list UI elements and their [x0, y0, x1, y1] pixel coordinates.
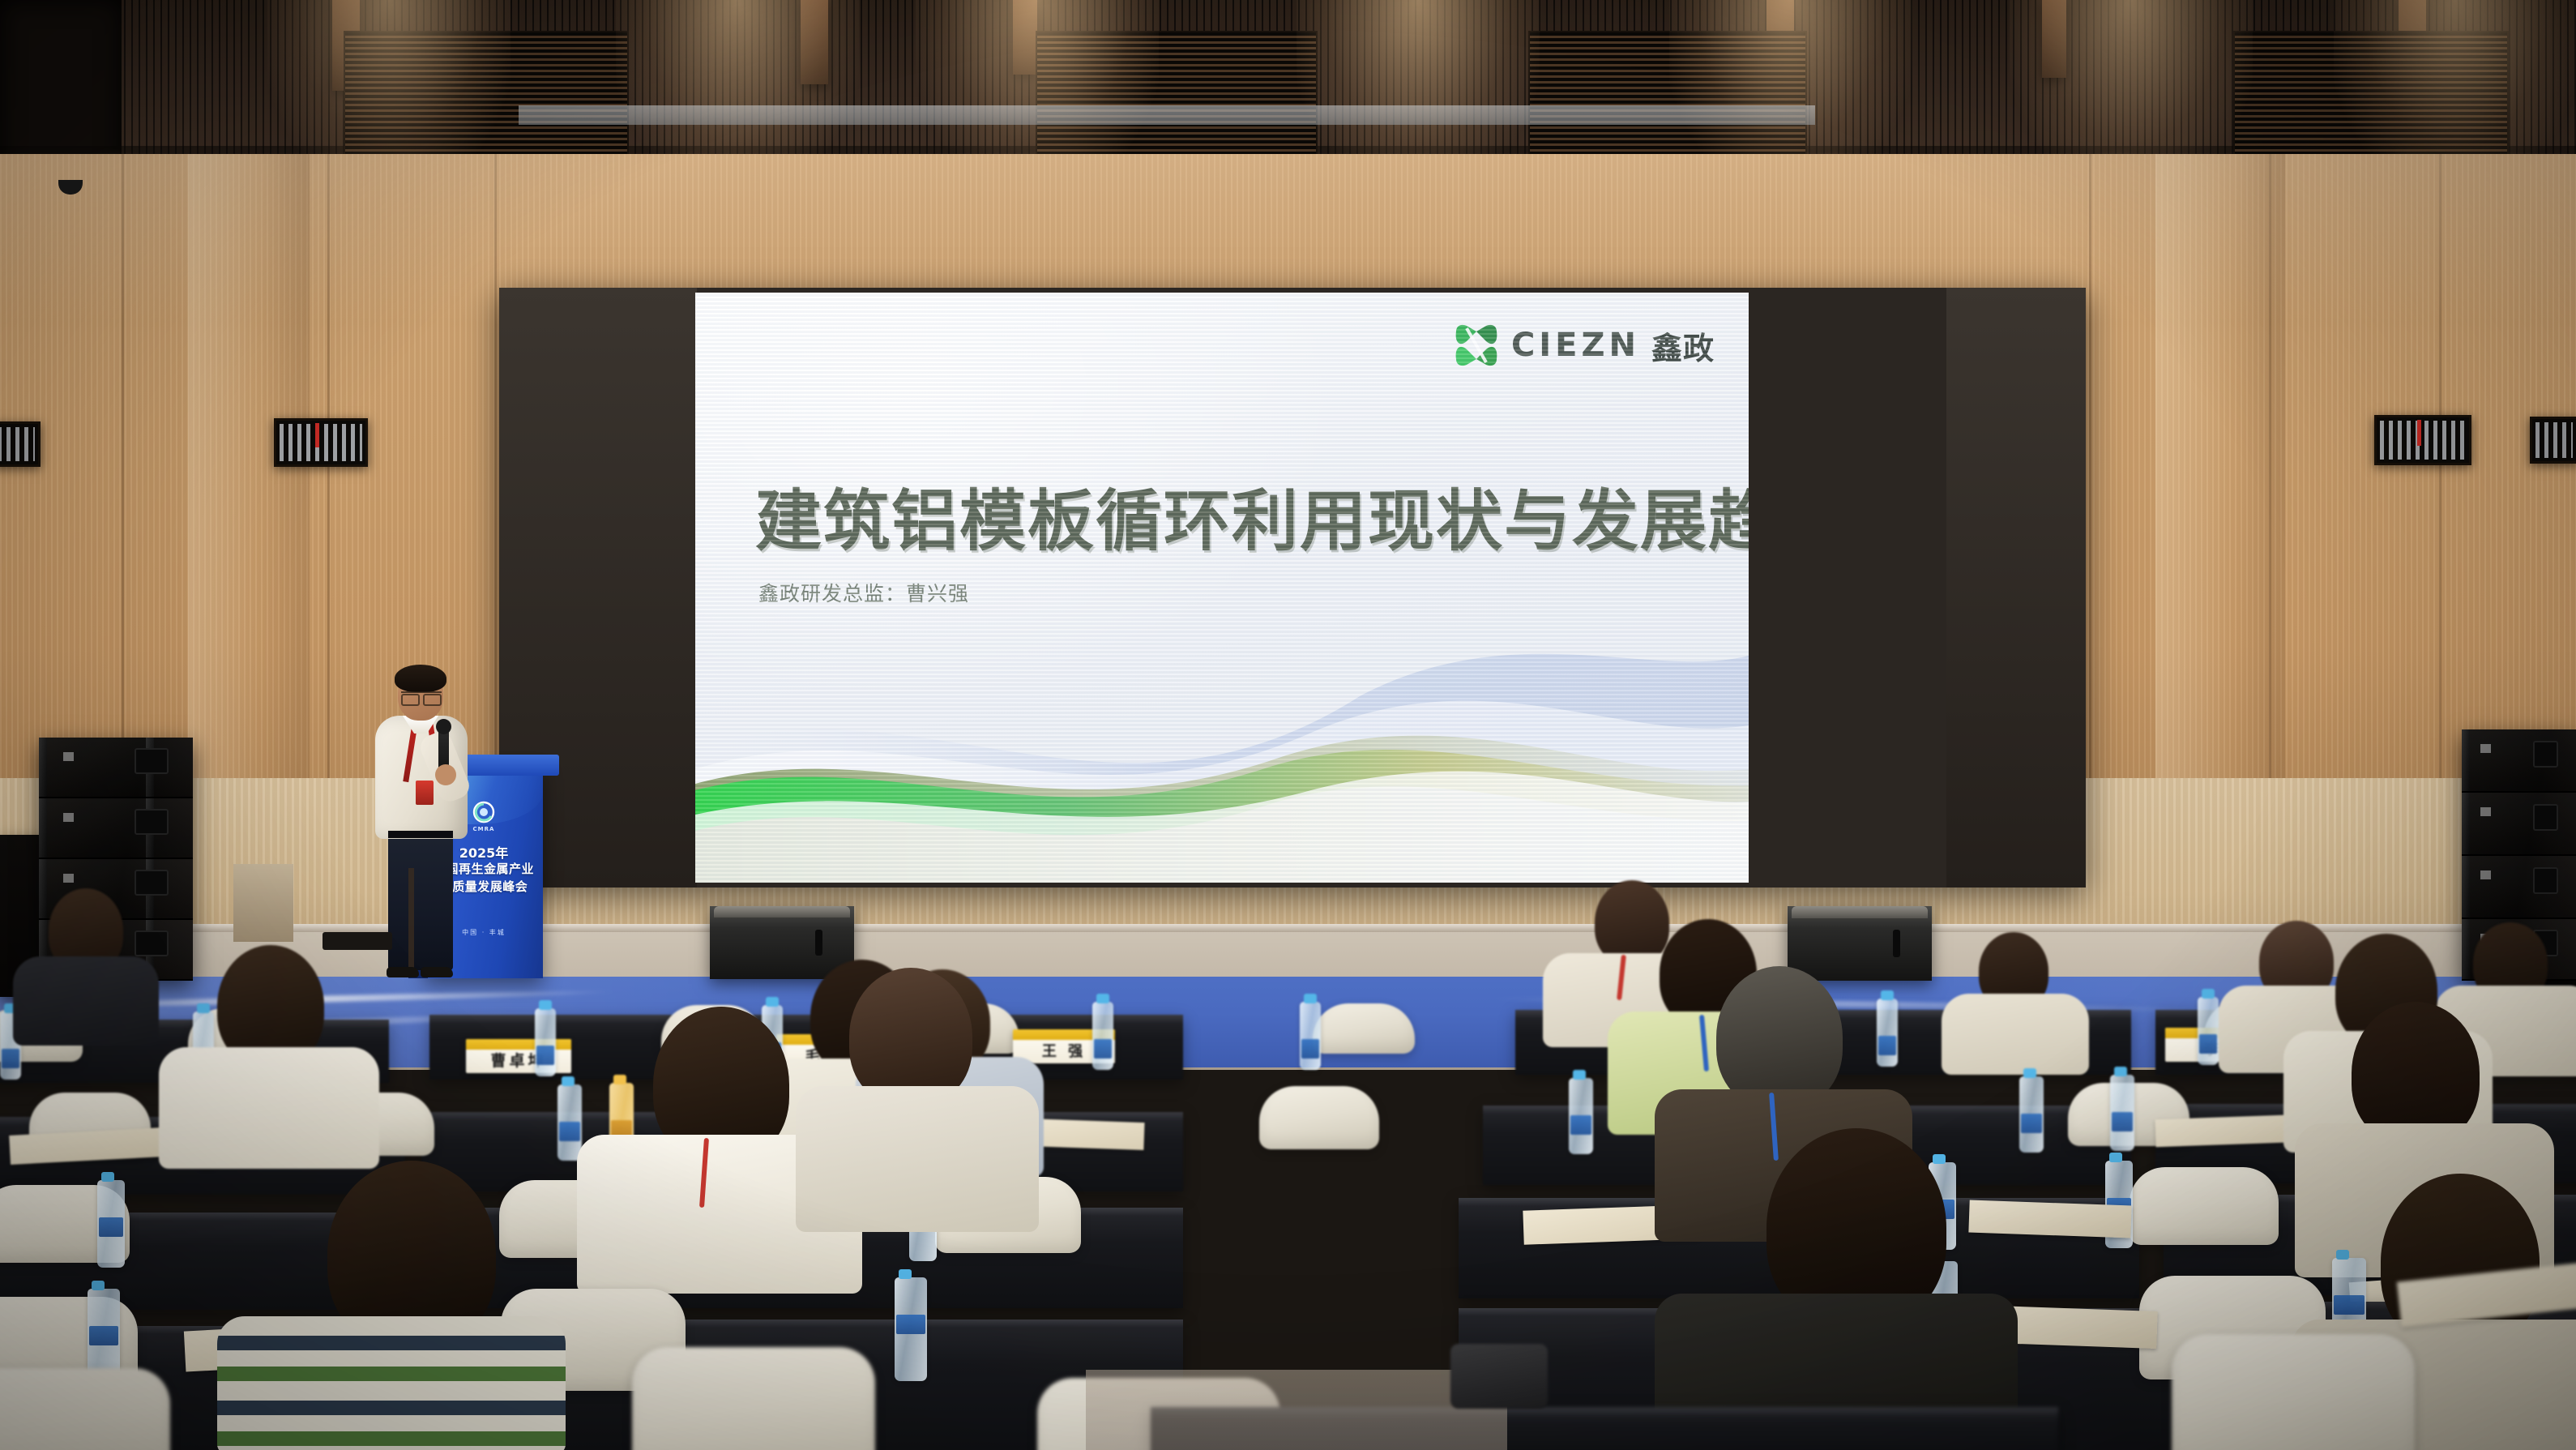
vent-bars [2535, 422, 2573, 458]
wall-vent-box [274, 418, 368, 467]
aisle-floor [1086, 1370, 1507, 1450]
presenter-hair [395, 665, 446, 692]
vent-red-tag [315, 423, 319, 447]
audience-head [1716, 966, 1843, 1109]
presenter-legs [388, 831, 453, 970]
water-bottle [2198, 997, 2219, 1065]
ceiling-beam [801, 0, 828, 84]
slide-subtitle: 鑫政研发总监：曹兴强 [758, 578, 969, 607]
line-array-module [2462, 793, 2576, 856]
led-panel-right [1946, 288, 2086, 888]
slide-wave-graphic [695, 648, 1749, 883]
ceiling-air-grille [1036, 31, 1318, 165]
presenter-shoe-left [387, 967, 419, 977]
presenter-leg-gap [408, 868, 414, 969]
cmra-label: CMRA [473, 826, 495, 832]
cmra-logo-icon [470, 800, 498, 828]
audience-head [1595, 880, 1669, 965]
ciezn-logo: CIEZN 鑫政 [1453, 322, 1715, 369]
water-bottle [895, 1277, 927, 1381]
vent-bars [2380, 421, 2466, 460]
glasses-icon [401, 691, 442, 701]
chair [2172, 1334, 2415, 1450]
stage-cable-box [323, 932, 392, 950]
water-bottle [2019, 1076, 2044, 1153]
line-array-module [39, 738, 193, 798]
presenter-hand [435, 764, 456, 785]
monitor-port [1893, 930, 1900, 956]
ceiling-air-grille [1528, 31, 1807, 165]
slide-title: 建筑铝模板循环利用现状与发展趋势 [755, 467, 1749, 563]
stage-monitor-left [710, 906, 854, 979]
water-bottle [97, 1180, 125, 1268]
vent-red-tag [2417, 420, 2421, 445]
water-bottle [557, 1084, 582, 1161]
conference-hall-photo: CIEZN 鑫政 建筑铝模板循环利用现状与发展趋势 鑫政研发总监：曹兴强 [0, 0, 2576, 1450]
water-bottle [1569, 1078, 1593, 1154]
line-array-module [2462, 856, 2576, 919]
chair [632, 1347, 875, 1450]
microphone-head [436, 719, 451, 734]
audience-body-striped-polo [217, 1316, 566, 1450]
audience-head [849, 968, 972, 1106]
water-bottle [2110, 1075, 2134, 1151]
ceiling-beam [1013, 0, 1037, 75]
vent-bars [0, 427, 35, 461]
audience-body [13, 956, 159, 1046]
presenter-shoe-right [421, 967, 453, 977]
notepad [1968, 1200, 2131, 1238]
chair [0, 1368, 170, 1450]
water-bottle [1300, 1002, 1321, 1070]
ciezn-logo-latin: CIEZN [1511, 327, 1640, 364]
monitor-port [815, 930, 822, 956]
ceiling-soffit [519, 105, 1815, 125]
floor-bag [1450, 1344, 1548, 1409]
wall-vent-box [2374, 415, 2471, 465]
stage-step [233, 864, 293, 942]
stage-monitor-right [1788, 906, 1932, 981]
presenter-belt [388, 831, 453, 838]
line-array-module [2462, 729, 2576, 793]
chair [2130, 1167, 2279, 1245]
ciezn-logo-chinese: 鑫政 [1651, 323, 1715, 368]
audience-body [159, 1047, 379, 1169]
chair [1313, 1003, 1415, 1054]
presenter-badge [416, 781, 434, 805]
ceiling-air-grille [344, 31, 629, 167]
water-bottle [535, 1008, 556, 1076]
wall-vent-box [0, 421, 41, 467]
water-bottle [1877, 999, 1898, 1067]
ceiling-beam [2042, 0, 2066, 78]
presentation-slide: CIEZN 鑫政 建筑铝模板循环利用现状与发展趋势 鑫政研发总监：曹兴强 [695, 293, 1749, 883]
ceiling-air-grille [2233, 31, 2509, 165]
audience-body [796, 1086, 1039, 1232]
ciezn-pinwheel-icon [1453, 322, 1500, 369]
audience-body [1942, 994, 2089, 1075]
wall-vent-box [2530, 417, 2576, 464]
water-bottle [1092, 1002, 1113, 1070]
chair [1259, 1086, 1379, 1149]
line-array-module [39, 798, 193, 859]
led-video-wall: CIEZN 鑫政 建筑铝模板循环利用现状与发展趋势 鑫政研发总监：曹兴强 [499, 288, 2086, 888]
vent-bars [280, 424, 362, 461]
